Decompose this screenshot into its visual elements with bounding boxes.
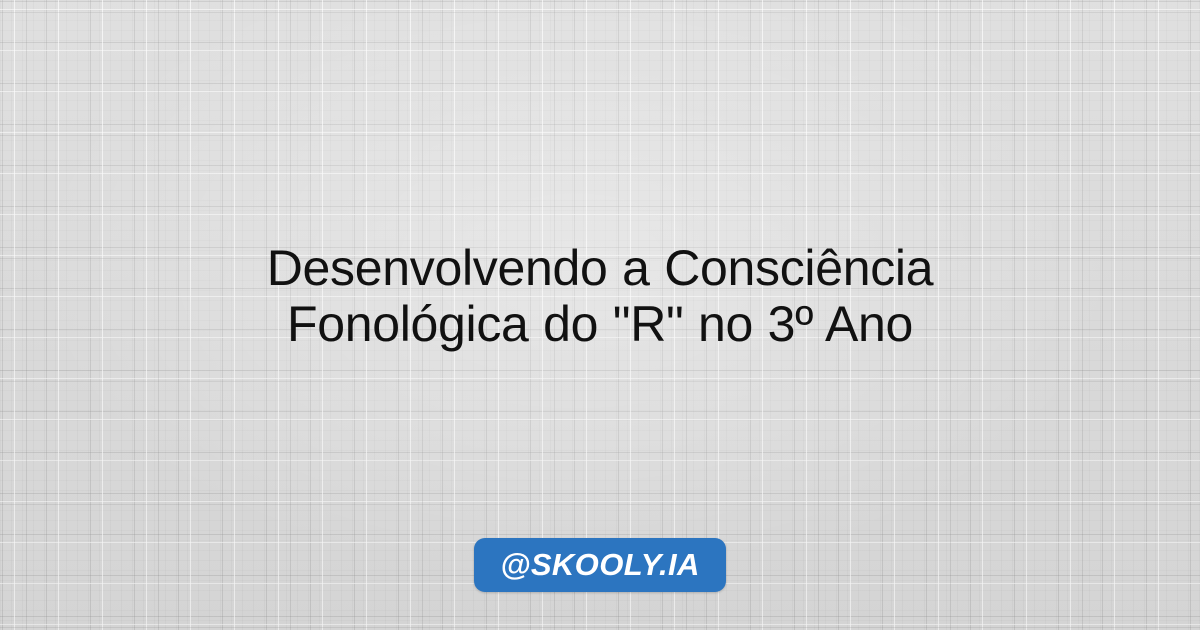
handle-badge-row: @SKOOLY.IA: [0, 538, 1200, 592]
page-title: Desenvolvendo a Consciência Fonológica d…: [70, 240, 1130, 352]
handle-badge[interactable]: @SKOOLY.IA: [474, 538, 726, 592]
page-title-line-2: Fonológica do "R" no 3º Ano: [70, 296, 1130, 352]
page-title-line-1: Desenvolvendo a Consciência: [70, 240, 1130, 296]
title-card: Desenvolvendo a Consciência Fonológica d…: [0, 0, 1200, 630]
